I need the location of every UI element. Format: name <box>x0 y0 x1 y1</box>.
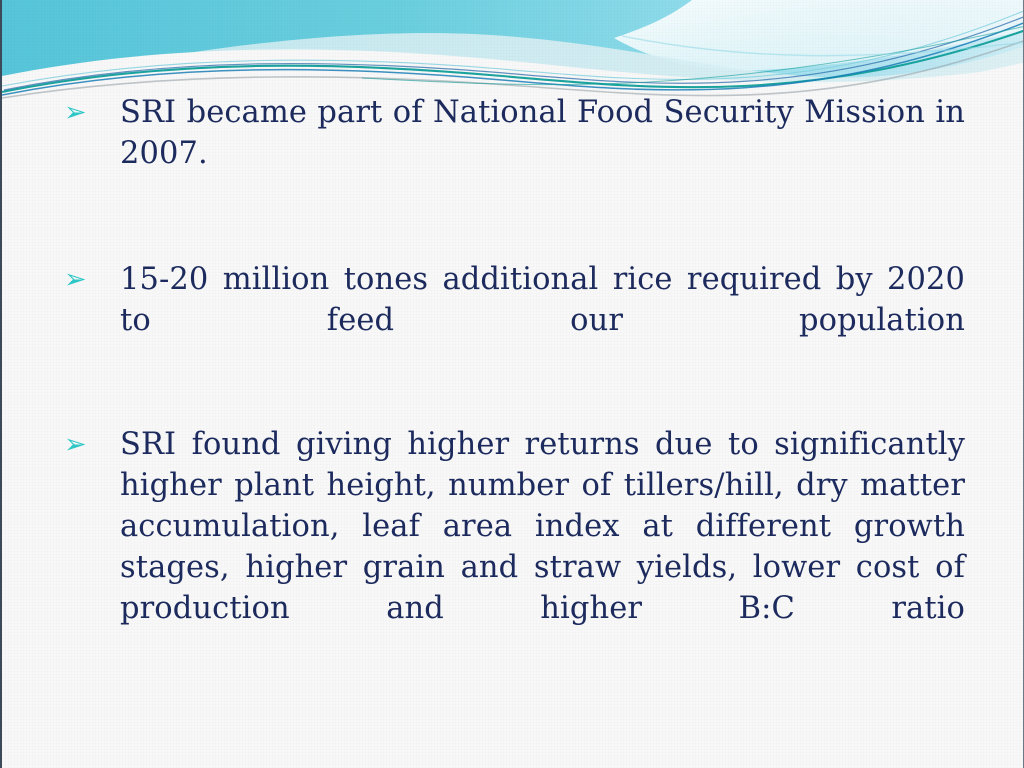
slide-body: ➢ SRI became part of National Food Secur… <box>2 92 1024 670</box>
presentation-slide: ➢ SRI became part of National Food Secur… <box>0 0 1024 768</box>
arrow-bullet-icon: ➢ <box>2 92 120 133</box>
bullet-item: ➢ SRI became part of National Food Secur… <box>2 92 1024 215</box>
arrow-bullet-icon: ➢ <box>2 424 120 465</box>
bullet-item: ➢ SRI found giving higher returns due to… <box>2 424 1024 670</box>
bullet-text: 15-20 million tones additional rice requ… <box>120 259 1024 382</box>
bullet-text: SRI found giving higher returns due to s… <box>120 424 1024 670</box>
arrow-bullet-icon: ➢ <box>2 259 120 300</box>
bullet-item: ➢ 15-20 million tones additional rice re… <box>2 259 1024 382</box>
bullet-text: SRI became part of National Food Securit… <box>120 92 1024 215</box>
